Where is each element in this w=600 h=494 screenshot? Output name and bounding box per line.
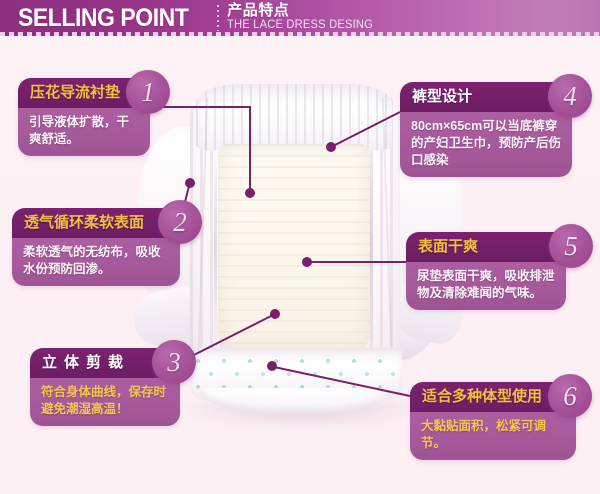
feature-body: 80cm×65cm可以当底裤穿的产妇卫生巾，预防产后伤口感染 xyxy=(400,112,572,177)
feature-number-badge-4: 4 xyxy=(548,74,592,118)
feature-number-badge-5: 5 xyxy=(549,224,593,268)
waistband-pattern xyxy=(190,356,402,390)
product-core-edge-right xyxy=(370,144,373,350)
feature-body: 符合身体曲线，保存时避免潮湿高温！ xyxy=(30,378,180,426)
header-english-subtitle: THE LACE DRESS DESING xyxy=(227,19,373,32)
feature-number-badge-1: 1 xyxy=(126,70,170,114)
infographic-page: SELLING POINT 产品特点 THE LACE DRESS DESING xyxy=(0,0,600,494)
product-absorbent-core xyxy=(218,144,370,352)
page-header: SELLING POINT 产品特点 THE LACE DRESS DESING xyxy=(0,0,600,36)
feature-title: 表面干爽 xyxy=(406,232,566,262)
feature-number-badge-3: 3 xyxy=(152,340,196,384)
header-dashed-rule xyxy=(0,32,600,36)
feature-title: 裤型设计 xyxy=(400,82,572,112)
header-main-title: SELLING POINT xyxy=(18,2,188,34)
header-chinese-title: 产品特点 xyxy=(227,2,378,19)
feature-title: 透气循环柔软表面 xyxy=(12,208,180,238)
feature-number-badge-2: 2 xyxy=(158,200,202,244)
header-dotted-divider xyxy=(217,5,219,31)
product-core-edge-left xyxy=(214,144,217,350)
feature-number-badge-6: 6 xyxy=(548,374,592,418)
feature-body: 大黏贴面积，松紧可调节。 xyxy=(410,412,576,460)
feature-body: 引导液体扩散，干爽舒适。 xyxy=(18,108,150,156)
feature-body: 柔软透气的无纺布，吸收水份预防回渗。 xyxy=(12,238,180,286)
feature-callout-4[interactable]: 裤型设计 80cm×65cm可以当底裤穿的产妇卫生巾，预防产后伤口感染 xyxy=(400,82,572,177)
feature-body: 尿垫表面干爽，吸收排泄物及清除难闻的气味。 xyxy=(406,262,566,310)
product-top-band xyxy=(196,84,392,150)
feature-callout-5[interactable]: 表面干爽 尿垫表面干爽，吸收排泄物及清除难闻的气味。 xyxy=(406,232,566,310)
feature-callout-2[interactable]: 透气循环柔软表面 柔软透气的无纺布，吸收水份预防回渗。 xyxy=(12,208,180,286)
